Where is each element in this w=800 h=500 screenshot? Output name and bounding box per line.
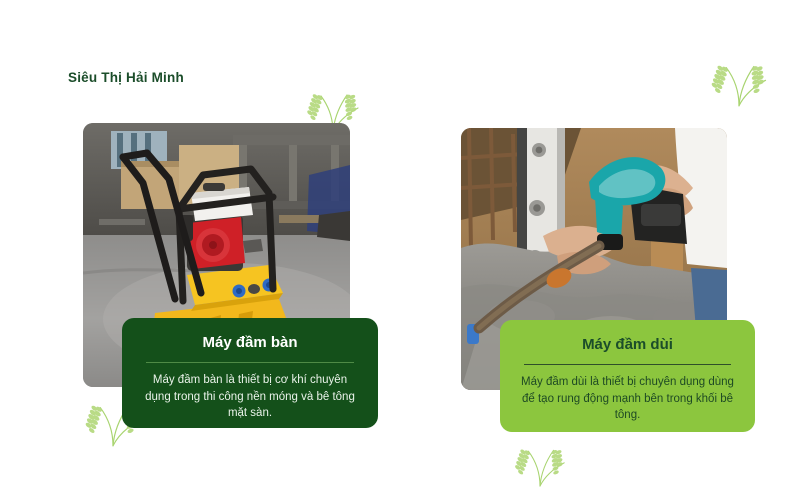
product-description: Máy đầm dùi là thiết bị chuyên dụng dùng… <box>518 374 737 424</box>
product-title: Máy đầm bàn <box>140 335 360 352</box>
product-caption-panel: Máy đầm bàn Máy đầm bàn là thiết bị cơ k… <box>122 318 378 428</box>
wheat-sprig-icon <box>704 42 774 108</box>
product-caption-panel: Máy đầm dùi Máy đầm dùi là thiết bị chuy… <box>500 320 755 432</box>
caption-divider <box>146 362 354 364</box>
page-title: Siêu Thị Hải Minh <box>68 70 184 85</box>
wheat-sprig-icon <box>508 428 572 488</box>
poster-canvas: Siêu Thị Hải Minh <box>0 0 800 500</box>
product-title: Máy đầm dùi <box>518 337 737 354</box>
product-description: Máy đầm bàn là thiết bị cơ khí chuyên dụ… <box>140 372 360 422</box>
caption-divider <box>524 364 731 366</box>
